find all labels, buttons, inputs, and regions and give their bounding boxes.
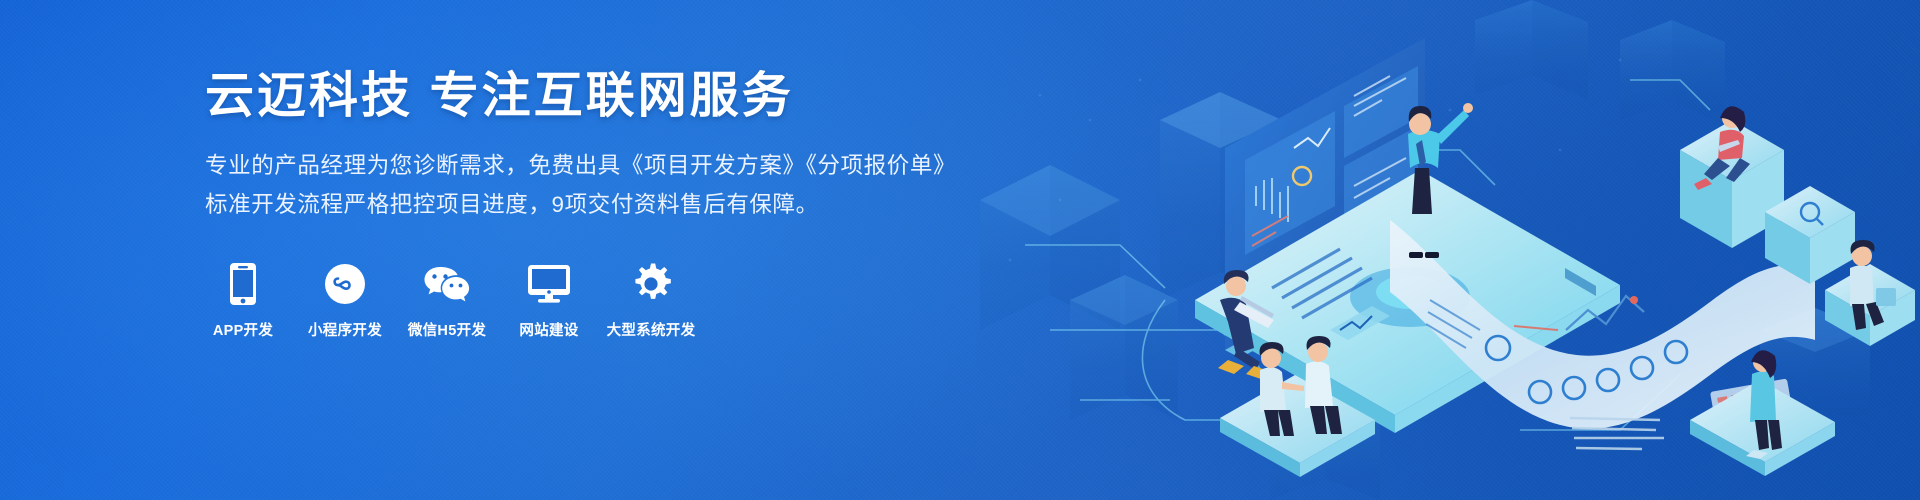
service-item-app[interactable]: APP开发 xyxy=(205,262,281,340)
service-label: 微信H5开发 xyxy=(408,319,486,340)
service-item-website[interactable]: 网站建设 xyxy=(511,262,587,340)
wechat-icon xyxy=(423,262,471,306)
banner-copy: 云迈科技 专注互联网服务 专业的产品经理为您诊断需求，免费出具《项目开发方案》《… xyxy=(205,68,905,223)
hero-banner: 云迈科技 专注互联网服务 专业的产品经理为您诊断需求，免费出具《项目开发方案》《… xyxy=(0,0,1920,500)
service-label: 大型系统开发 xyxy=(607,319,696,340)
service-item-wechat-h5[interactable]: 微信H5开发 xyxy=(409,262,485,340)
mobile-phone-icon xyxy=(228,262,258,306)
service-label: 网站建设 xyxy=(519,319,578,340)
service-label: APP开发 xyxy=(213,319,273,340)
mini-program-icon xyxy=(324,262,366,306)
service-list: APP开发 小程序开发 微信 xyxy=(205,262,689,340)
illustration-container xyxy=(920,0,1920,500)
isometric-data-platform-illustration xyxy=(920,0,1920,500)
service-item-mini-program[interactable]: 小程序开发 xyxy=(307,262,383,340)
gear-icon xyxy=(630,262,672,306)
monitor-icon xyxy=(527,262,571,306)
page-title: 云迈科技 专注互联网服务 xyxy=(205,68,905,124)
banner-subtitle-line-1: 专业的产品经理为您诊断需求，免费出具《项目开发方案》《分项报价单》 xyxy=(205,148,905,184)
banner-subtitle-line-2: 标准开发流程严格把控项目进度，9项交付资料售后有保障。 xyxy=(205,187,905,223)
service-label: 小程序开发 xyxy=(308,319,382,340)
service-item-large-system[interactable]: 大型系统开发 xyxy=(613,262,689,340)
